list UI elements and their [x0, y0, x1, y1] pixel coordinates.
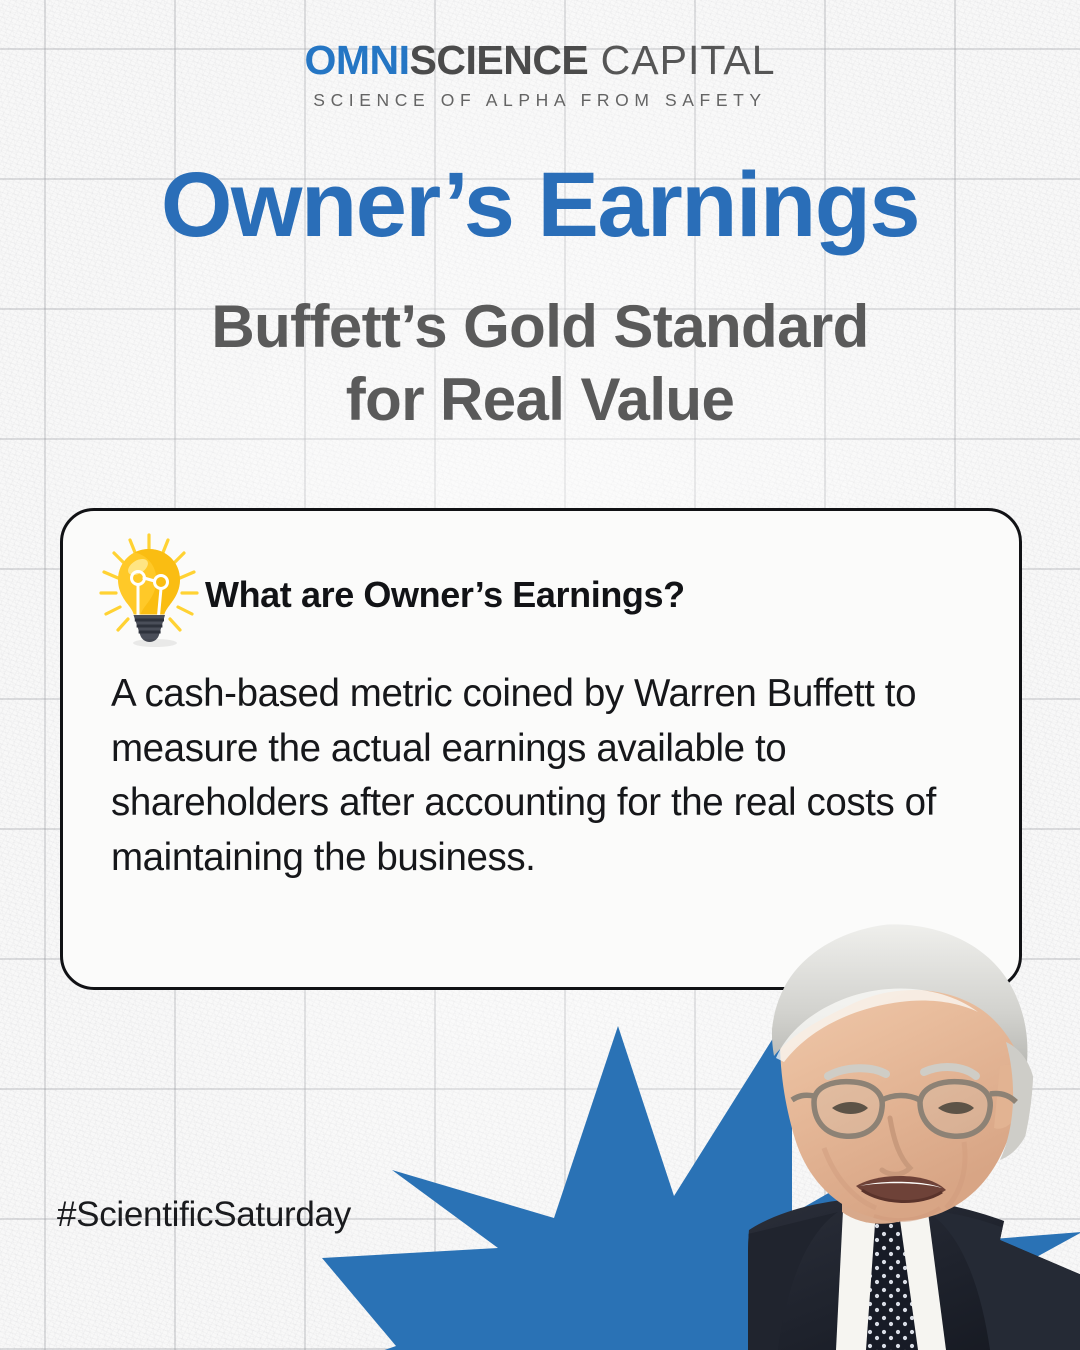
info-card-heading: What are Owner’s Earnings?	[205, 574, 685, 616]
logo-wordmark: OMNISCIENCE CAPITAL	[0, 40, 1080, 81]
page-subtitle: Buffett’s Gold Standard for Real Value	[0, 290, 1080, 436]
logo-omni-text: OMNI	[304, 37, 409, 83]
poster-canvas: OMNISCIENCE CAPITAL SCIENCE OF ALPHA FRO…	[0, 0, 1080, 1350]
logo-capital-text: CAPITAL	[588, 37, 775, 83]
lightbulb-icon	[97, 531, 201, 651]
hashtag-label: #ScientificSaturday	[57, 1195, 351, 1235]
logo-science-text: SCIENCE	[410, 37, 589, 83]
logo-tagline: SCIENCE OF ALPHA FROM SAFETY	[0, 90, 1080, 111]
brand-logo: OMNISCIENCE CAPITAL SCIENCE OF ALPHA FRO…	[0, 40, 1080, 111]
info-card-header: What are Owner’s Earnings?	[63, 511, 1019, 651]
blue-starburst-icon	[322, 1000, 1080, 1350]
info-card: What are Owner’s Earnings? A cash-based …	[60, 508, 1022, 990]
page-subtitle-line-2: for Real Value	[0, 363, 1080, 436]
page-subtitle-line-1: Buffett’s Gold Standard	[0, 290, 1080, 363]
info-card-body: A cash-based metric coined by Warren Buf…	[63, 651, 1019, 886]
page-title: Owner’s Earnings	[0, 157, 1080, 254]
